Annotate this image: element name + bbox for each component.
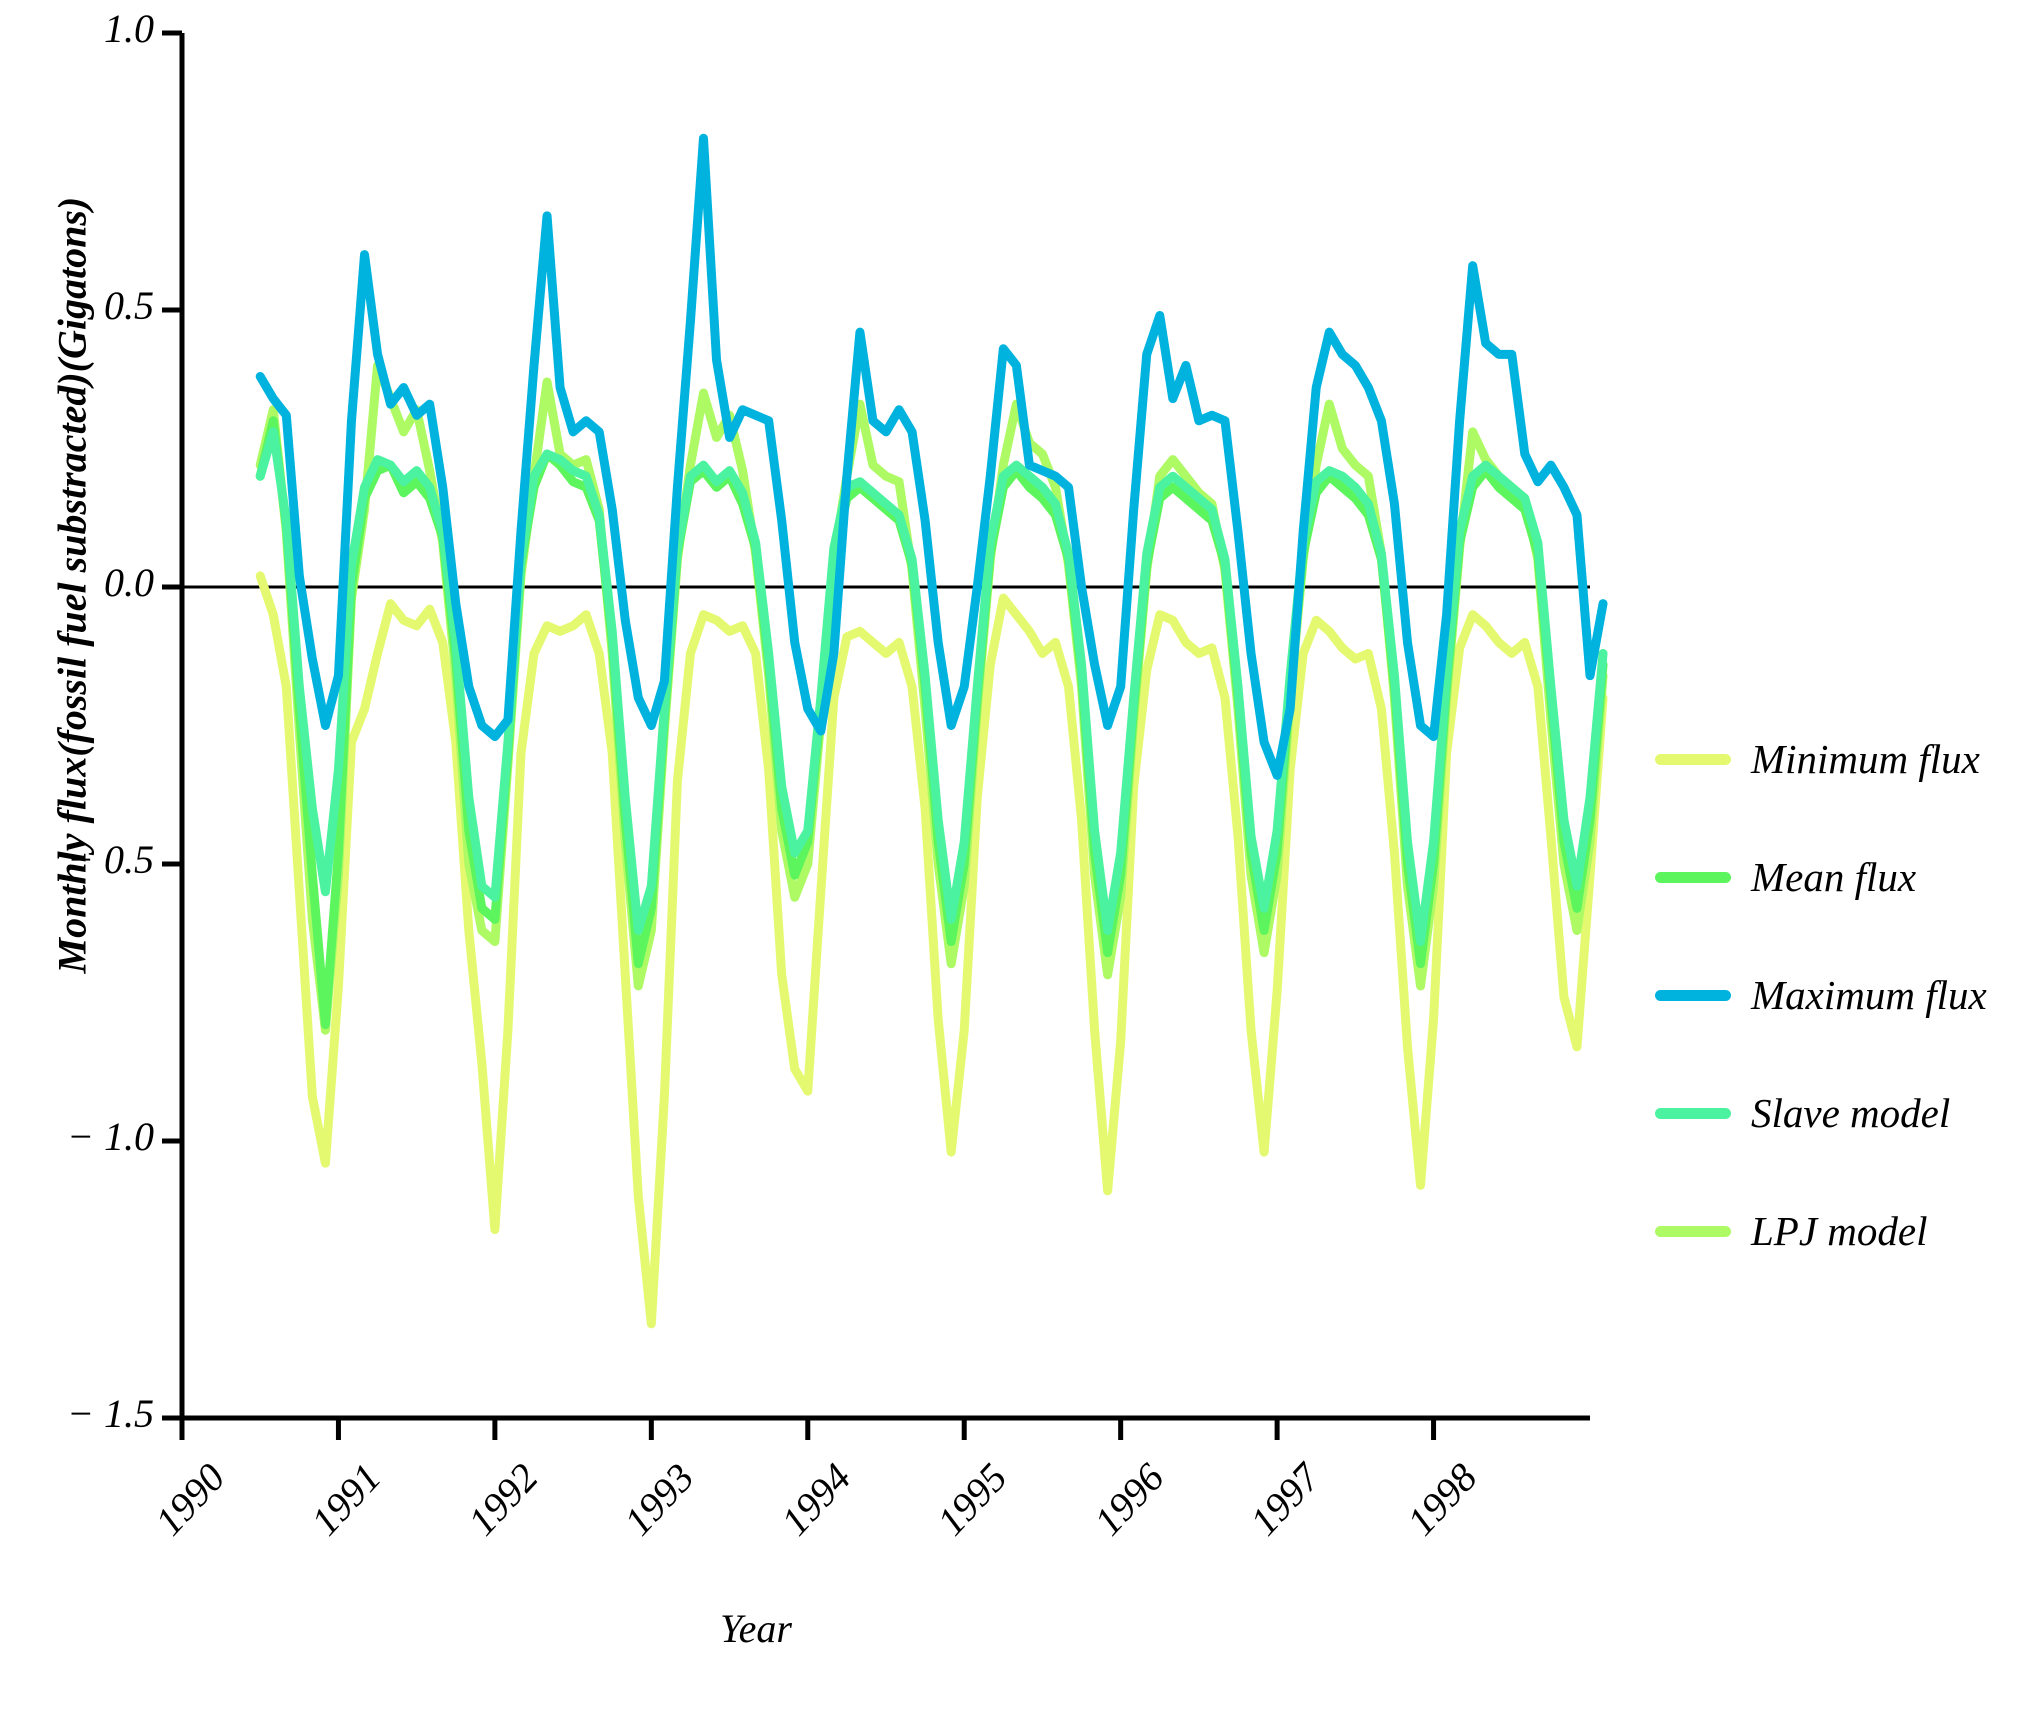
- legend-label: Slave model: [1751, 1089, 1950, 1137]
- chart-legend: Minimum fluxMean fluxMaximum fluxSlave m…: [1655, 700, 2024, 1290]
- legend-swatch-icon: [1655, 872, 1731, 883]
- legend-item-lpj-model[interactable]: LPJ model: [1655, 1172, 2024, 1290]
- legend-item-mean-flux[interactable]: Mean flux: [1655, 818, 2024, 936]
- y-axis-title-sub: (fossil fuel substracted)(Gigatons): [50, 197, 95, 757]
- legend-item-slave-model[interactable]: Slave model: [1655, 1054, 2024, 1172]
- data-series-layer: [260, 138, 1603, 1324]
- legend-swatch-icon: [1655, 754, 1731, 765]
- legend-swatch-icon: [1655, 1108, 1731, 1119]
- legend-swatch-icon: [1655, 1226, 1731, 1237]
- legend-item-maximum-flux[interactable]: Maximum flux: [1655, 936, 2024, 1054]
- legend-swatch-icon: [1655, 990, 1731, 1001]
- y-tick-label: − 1.5: [4, 1390, 154, 1437]
- axis-layer: [162, 33, 1590, 1440]
- legend-label: Mean flux: [1751, 853, 1916, 901]
- y-tick-label: 1.0: [4, 5, 154, 52]
- x-axis-title: Year: [720, 1605, 792, 1652]
- legend-label: LPJ model: [1751, 1207, 1928, 1255]
- legend-label: Minimum flux: [1751, 735, 1980, 783]
- y-tick-label: 0.5: [4, 282, 154, 329]
- y-tick-label: 0.0: [4, 559, 154, 606]
- y-tick-label: − 0.5: [4, 836, 154, 883]
- y-tick-label: − 1.0: [4, 1113, 154, 1160]
- chart-canvas: Monthly flux(fossil fuel substracted)(Gi…: [0, 0, 2024, 1729]
- legend-label: Maximum flux: [1751, 971, 1987, 1019]
- legend-item-minimum-flux[interactable]: Minimum flux: [1655, 700, 2024, 818]
